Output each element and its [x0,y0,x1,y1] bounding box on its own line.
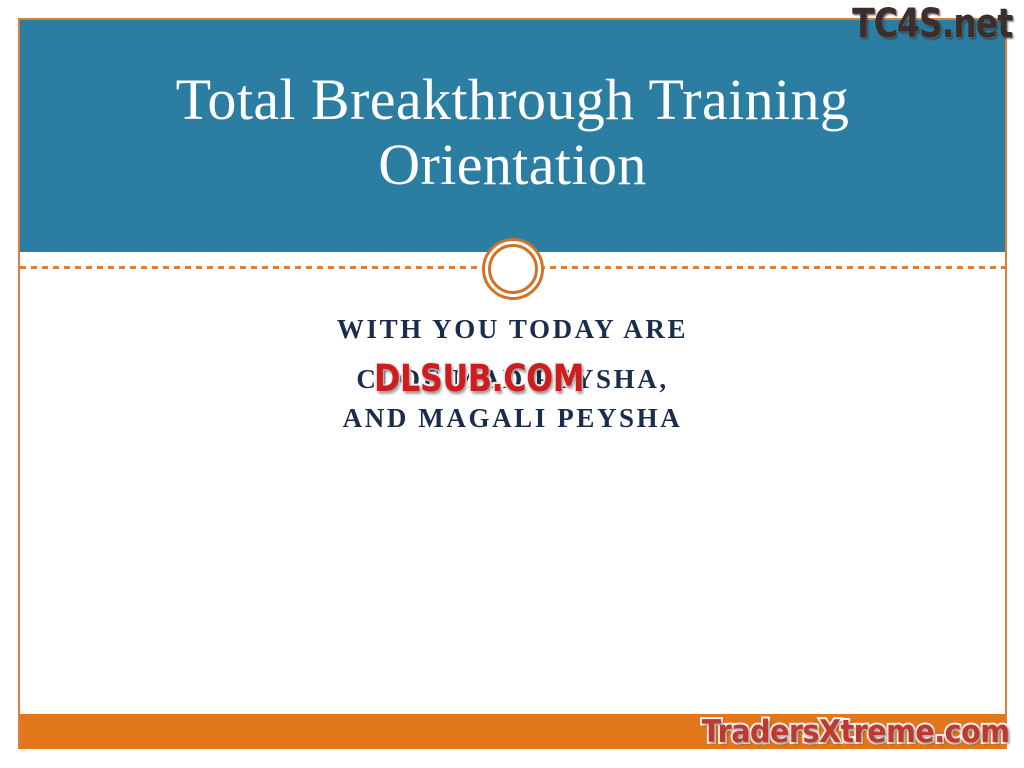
divider-dash-right [539,266,1005,269]
divider-dash-left [20,266,486,269]
title-band: Total Breakthrough Training Orientation [20,20,1005,252]
subtitle-line-1: WITH YOU TODAY ARE [60,310,965,348]
subtitle-line-3: AND MAGALI PEYSHA [60,399,965,437]
double-ring-ornament-icon [482,238,544,300]
watermark-bottom-right: TradersXtreme.com [702,714,1010,750]
presentation-slide: Total Breakthrough Training Orientation … [0,0,1024,768]
watermark-center: DLSUB.COM [374,357,584,400]
ring-inner-icon [488,244,538,294]
page-title: Total Breakthrough Training Orientation [20,20,1005,252]
watermark-top-right: TC4S.net [852,1,1012,47]
